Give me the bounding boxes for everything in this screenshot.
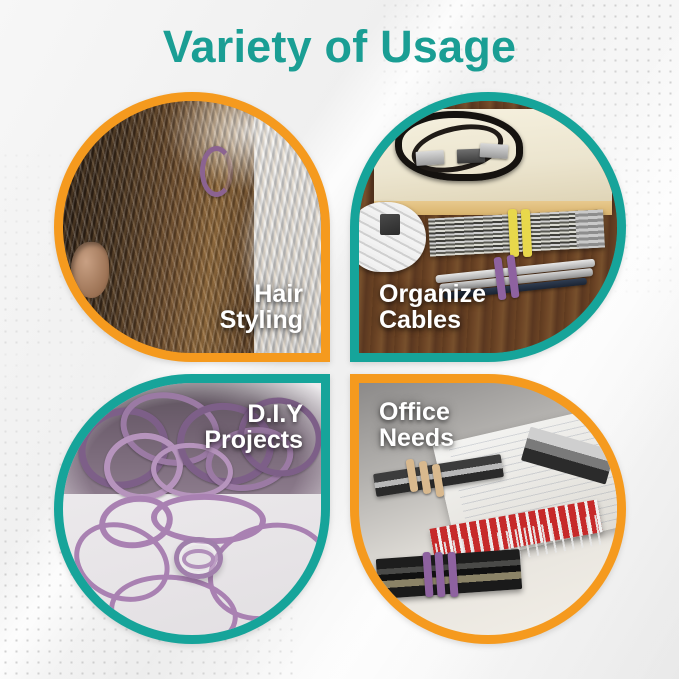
charger-brick [380, 214, 401, 234]
panel-border-orange: Hair Styling [54, 92, 330, 362]
pencil-tips [575, 210, 605, 249]
panel-photo-frame: Organize Cables [359, 101, 617, 353]
panel-caption-diy-projects: D.I.Y Projects [204, 401, 303, 453]
rubber-band-coil [174, 537, 223, 580]
panel-organize-cables[interactable]: Organize Cables [350, 92, 626, 362]
yellow-rubber-band-icon [507, 209, 519, 257]
panel-photo-frame: Office Needs [359, 383, 617, 635]
panel-diy-projects[interactable]: D.I.Y Projects [54, 374, 330, 644]
panel-office-needs[interactable]: Office Needs [350, 374, 626, 644]
usb-connector [415, 150, 444, 166]
panel-border-teal: Organize Cables [350, 92, 626, 362]
infographic-canvas: Variety of Usage Hair Styling [0, 0, 679, 679]
page-title: Variety of Usage [0, 24, 679, 69]
panel-caption-office-needs: Office Needs [379, 399, 454, 451]
panel-grid: Hair Styling [54, 92, 626, 644]
yellow-rubber-band-icon [520, 209, 532, 257]
panel-caption-organize-cables: Organize Cables [379, 281, 486, 333]
panel-border-teal: D.I.Y Projects [54, 374, 330, 644]
panel-hair-styling[interactable]: Hair Styling [54, 92, 330, 362]
usb-connector [480, 143, 509, 159]
panel-border-orange: Office Needs [350, 374, 626, 644]
panel-photo-frame: D.I.Y Projects [63, 383, 321, 635]
purple-rubber-band-icon [200, 146, 233, 196]
panel-caption-hair-styling: Hair Styling [220, 281, 303, 333]
panel-photo-frame: Hair Styling [63, 101, 321, 353]
ear-shape [71, 242, 110, 297]
